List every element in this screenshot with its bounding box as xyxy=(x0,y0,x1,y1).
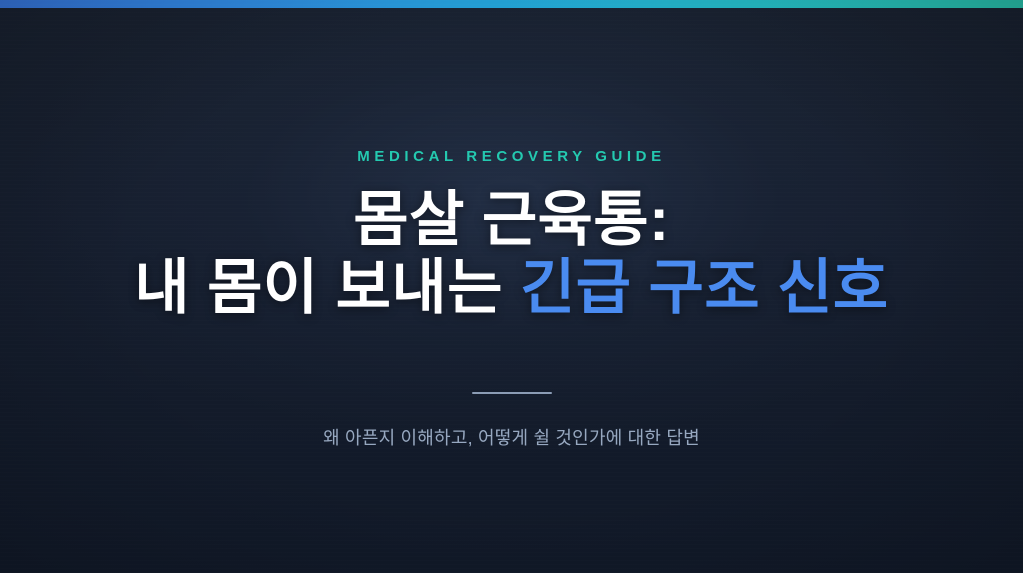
title-slide: MEDICAL RECOVERY GUIDE 몸살 근육통: 내 몸이 보내는 … xyxy=(0,0,1023,573)
title-line-1: 몸살 근육통: xyxy=(134,186,888,254)
page-title: 몸살 근육통: 내 몸이 보내는 긴급 구조 신호 xyxy=(134,186,888,322)
eyebrow-label: MEDICAL RECOVERY GUIDE xyxy=(357,146,665,168)
subtitle-text: 왜 아픈지 이해하고, 어떻게 쉴 것인가에 대한 답변 xyxy=(323,425,700,451)
title-line-2: 내 몸이 보내는 긴급 구조 신호 xyxy=(134,254,888,322)
title-line-2-plain: 내 몸이 보내는 xyxy=(134,254,520,321)
title-divider xyxy=(472,392,552,394)
slide-content: MEDICAL RECOVERY GUIDE 몸살 근육통: 내 몸이 보내는 … xyxy=(0,0,1023,573)
title-line-2-highlight: 긴급 구조 신호 xyxy=(520,254,889,321)
